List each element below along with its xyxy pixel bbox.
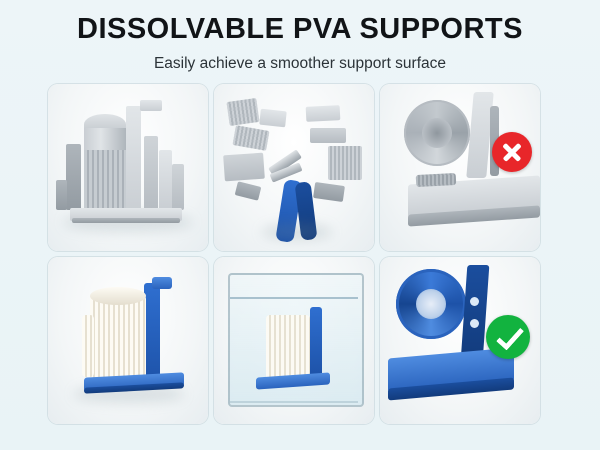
image-grid: 3D printed part with grey PVA support st… — [48, 84, 552, 424]
cell-rough-surface-result: Close up of rough spiral surface left by… — [380, 84, 540, 251]
model-ribs — [84, 150, 126, 208]
support-column — [144, 136, 158, 210]
tank-bottom-line — [230, 401, 358, 403]
cell-model-with-dissolvable-supports: Ribbed ivory model printed on a blue bas… — [48, 257, 208, 424]
support-tab — [152, 277, 172, 289]
cell-model-dissolving-in-water: The model placed in a transparent contai… — [214, 257, 374, 424]
cell-printed-model-with-grey-supports: 3D printed part with grey PVA support st… — [48, 84, 208, 251]
support-wall — [310, 307, 322, 377]
support-column — [66, 144, 81, 210]
drop-shadow — [262, 224, 332, 240]
support-fragment — [259, 109, 287, 128]
page-title: DISSOLVABLE PVA SUPPORTS — [0, 0, 600, 46]
spiral-hub — [416, 289, 446, 319]
support-fragment — [328, 146, 362, 180]
rough-surface-texture — [416, 173, 457, 187]
poster: DISSOLVABLE PVA SUPPORTS Easily achieve … — [0, 0, 600, 450]
wall-hole — [470, 297, 479, 306]
cell-removed-support-pieces-with-cutters: Grey support pieces cut away with blue-h… — [214, 84, 374, 251]
water-surface-line — [230, 297, 358, 299]
build-plate-edge — [72, 218, 180, 223]
cross-icon — [492, 132, 532, 172]
support-wall — [126, 106, 141, 214]
spiral-hub — [422, 118, 452, 148]
page-subtitle: Easily achieve a smoother support surfac… — [0, 46, 600, 73]
printed-model-body — [266, 315, 310, 383]
support-fragment — [306, 105, 341, 122]
support-fragment — [223, 153, 265, 182]
support-column — [159, 150, 172, 210]
check-icon — [486, 315, 530, 359]
support-fragment — [310, 128, 346, 143]
wall-hole — [470, 319, 479, 328]
support-tab — [140, 100, 162, 111]
printed-model-side — [82, 315, 94, 377]
support-column — [56, 180, 67, 210]
check-mark — [496, 322, 524, 351]
printed-model-body — [90, 295, 146, 379]
support-column — [172, 164, 184, 210]
cell-smooth-surface-result: Clean smooth blue spiral part after the … — [380, 257, 540, 424]
model-cylinder-body — [84, 128, 126, 152]
support-fragment — [226, 98, 259, 126]
support-wall — [144, 283, 160, 385]
printed-model-top — [90, 287, 146, 305]
